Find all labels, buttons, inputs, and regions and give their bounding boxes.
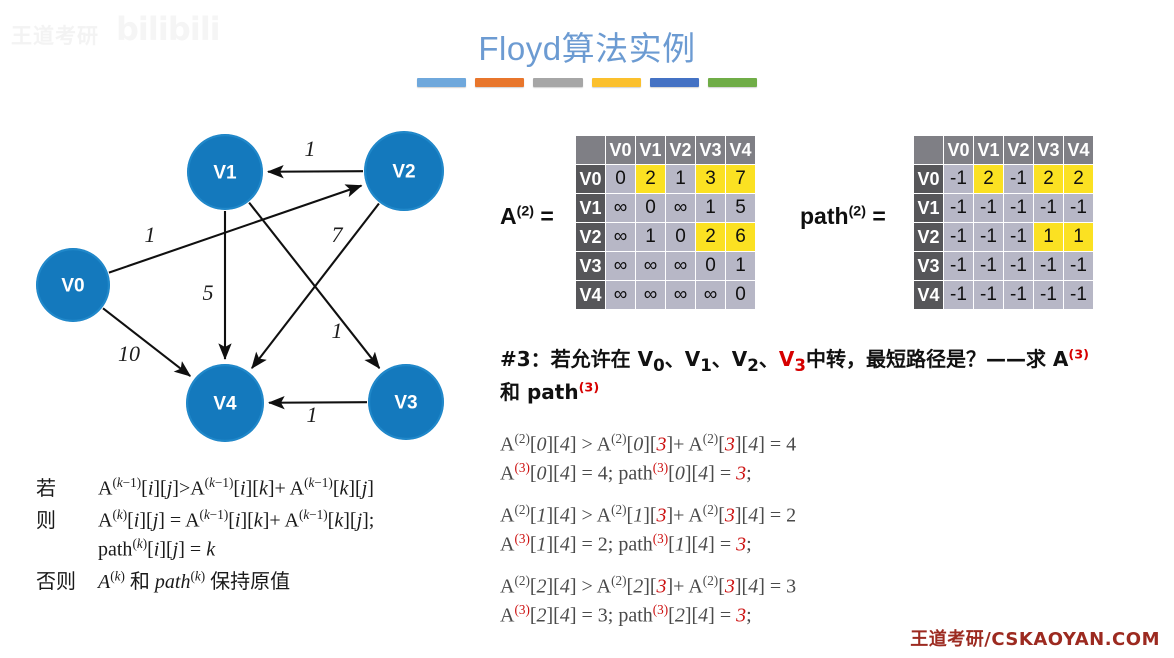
- matrix-path-corner: [914, 136, 943, 164]
- node-label-V3: V3: [394, 393, 417, 414]
- matrix-a-row-header-0: V0: [576, 165, 605, 193]
- matrix-a-cell-3-2: ∞: [666, 252, 695, 280]
- rule-value-0: A(k−1)[i][j]>A(k−1)[i][k]+ A(k−1)[k][j]: [98, 475, 374, 501]
- graph-nodes: V0V1V2V3V4: [36, 131, 444, 442]
- matrix-a-label: A(2) =: [500, 203, 554, 230]
- accent-bar-0: [417, 78, 466, 87]
- rule-value-1: A(k)[i][j] = A(k−1)[i][k]+ A(k−1)[k][j];: [98, 507, 374, 533]
- node-label-V2: V2: [392, 162, 415, 183]
- matrix-a-row: V4∞∞∞∞0: [576, 281, 755, 309]
- question-line-2: 和 path(3): [500, 378, 1160, 407]
- matrix-a-cell-4-3: ∞: [696, 281, 725, 309]
- matrix-a-cell-4-2: ∞: [666, 281, 695, 309]
- derivation-line-0-0: A(2)[0][4] > A(2)[0][3]+ A(2)[3][4] = 4: [500, 430, 1160, 459]
- matrix-a-cell-2-2: 0: [666, 223, 695, 251]
- matrix-a-cell-0-1: 2: [636, 165, 665, 193]
- graph-edge-V2-V1: [268, 171, 363, 172]
- matrix-path-row: V0-12-122: [914, 165, 1093, 193]
- matrix-path-row-header-2: V2: [914, 223, 943, 251]
- matrix-a-cell-4-0: ∞: [606, 281, 635, 309]
- matrix-a-cell-1-3: 1: [696, 194, 725, 222]
- matrix-a-row-header-4: V4: [576, 281, 605, 309]
- rule-key-0: 若: [36, 472, 98, 501]
- edge-weight-V0-V4: 10: [118, 341, 140, 366]
- matrix-a-cell-3-0: ∞: [606, 252, 635, 280]
- matrix-path-cell-3-0: -1: [944, 252, 973, 280]
- node-label-V0: V0: [61, 276, 84, 297]
- matrix-a-cell-3-1: ∞: [636, 252, 665, 280]
- matrix-path-col-header-3: V3: [1034, 136, 1063, 164]
- matrix-a-corner: [576, 136, 605, 164]
- matrix-a-cell-1-0: ∞: [606, 194, 635, 222]
- matrix-path-label: path(2) =: [800, 203, 886, 230]
- matrix-a-cell-3-3: 0: [696, 252, 725, 280]
- accent-bar-4: [650, 78, 699, 87]
- matrix-path-row: V4-1-1-1-1-1: [914, 281, 1093, 309]
- accent-bar-5: [708, 78, 757, 87]
- matrix-a-cell-4-1: ∞: [636, 281, 665, 309]
- rule-key-1: 则: [36, 504, 98, 533]
- node-label-V4: V4: [213, 394, 237, 415]
- matrix-path-cell-2-3: 1: [1034, 223, 1063, 251]
- matrix-path-row-header-1: V1: [914, 194, 943, 222]
- matrix-path-cell-1-4: -1: [1064, 194, 1093, 222]
- matrix-path-cell-4-1: -1: [974, 281, 1003, 309]
- accent-bar-1: [475, 78, 524, 87]
- derivation-line-1-1: A(3)[1][4] = 2; path(3)[1][4] = 3;: [500, 530, 1160, 559]
- matrix-path-cell-2-4: 1: [1064, 223, 1093, 251]
- derivation-group-1: A(2)[1][4] > A(2)[1][3]+ A(2)[3][4] = 2A…: [500, 501, 1160, 559]
- derivation-line-0-1: A(3)[0][4] = 4; path(3)[0][4] = 3;: [500, 459, 1160, 488]
- matrix-a-row-header-3: V3: [576, 252, 605, 280]
- matrix-path-cell-3-4: -1: [1064, 252, 1093, 280]
- matrix-path-cell-4-0: -1: [944, 281, 973, 309]
- matrix-path-cell-4-2: -1: [1004, 281, 1033, 309]
- floyd-rule-block: 若A(k−1)[i][j]>A(k−1)[i][k]+ A(k−1)[k][j]…: [36, 472, 476, 597]
- graph-node-V0[interactable]: V0: [36, 248, 110, 322]
- matrix-a-cell-0-2: 1: [666, 165, 695, 193]
- matrix-path-cell-4-3: -1: [1034, 281, 1063, 309]
- graph-node-V4[interactable]: V4: [186, 364, 264, 442]
- derivation-line-1-0: A(2)[1][4] > A(2)[1][3]+ A(2)[3][4] = 2: [500, 501, 1160, 530]
- matrix-a-col-header-4: V4: [726, 136, 755, 164]
- accent-bar-3: [592, 78, 641, 87]
- edge-weight-V0-V2: 1: [145, 222, 156, 247]
- matrix-path-cell-0-0: -1: [944, 165, 973, 193]
- rule-row-2: path(k)[i][j] = k: [36, 536, 476, 562]
- matrix-path-cell-0-4: 2: [1064, 165, 1093, 193]
- rule-value-3: A(k) 和 path(k) 保持原值: [98, 565, 290, 594]
- derivation-block: A(2)[0][4] > A(2)[0][3]+ A(2)[3][4] = 4A…: [500, 430, 1160, 643]
- accent-bar-2: [533, 78, 582, 87]
- graph-edge-V3-V4: [269, 402, 367, 403]
- matrix-path-col-header-0: V0: [944, 136, 973, 164]
- matrix-a-row-header-2: V2: [576, 223, 605, 251]
- matrix-path2: V0V1V2V3V4V0-12-122V1-1-1-1-1-1V2-1-1-11…: [913, 135, 1094, 310]
- graph-node-V2[interactable]: V2: [364, 131, 444, 211]
- edge-weight-V2-V1: 1: [305, 136, 316, 161]
- title-accent-bars: [417, 78, 757, 87]
- matrix-path-cell-2-0: -1: [944, 223, 973, 251]
- matrix-path-col-header-1: V1: [974, 136, 1003, 164]
- matrix-path-cell-3-3: -1: [1034, 252, 1063, 280]
- matrix-a-cell-0-4: 7: [726, 165, 755, 193]
- matrix-path-row-header-3: V3: [914, 252, 943, 280]
- matrix-a-col-header-3: V3: [696, 136, 725, 164]
- matrix-path-cell-3-1: -1: [974, 252, 1003, 280]
- slide-canvas: 王道考研 bilibili Floyd算法实例 V0V1V2V3V4 11571…: [0, 0, 1174, 658]
- matrix-a-row: V2∞1026: [576, 223, 755, 251]
- page-title: Floyd算法实例: [0, 22, 1174, 70]
- matrix-a-cell-2-4: 6: [726, 223, 755, 251]
- edge-weight-V1-V4: 5: [203, 280, 214, 305]
- footer-watermark: 王道考研/CSKAOYAN.COM: [910, 625, 1160, 651]
- matrix-path-cell-0-3: 2: [1034, 165, 1063, 193]
- matrix-path-cell-0-1: 2: [974, 165, 1003, 193]
- rule-row-3: 否则A(k) 和 path(k) 保持原值: [36, 565, 476, 594]
- matrix-path-cell-1-2: -1: [1004, 194, 1033, 222]
- graph-svg: V0V1V2V3V4 11571101: [0, 110, 500, 460]
- matrix-path-cell-0-2: -1: [1004, 165, 1033, 193]
- matrix-path-cell-1-0: -1: [944, 194, 973, 222]
- matrix-a-row: V3∞∞∞01: [576, 252, 755, 280]
- rule-key-3: 否则: [36, 565, 98, 594]
- matrix-a-cell-0-3: 3: [696, 165, 725, 193]
- matrix-path-cell-1-1: -1: [974, 194, 1003, 222]
- matrix-path-col-header-2: V2: [1004, 136, 1033, 164]
- matrix-path-col-header-4: V4: [1064, 136, 1093, 164]
- matrix-path-row: V1-1-1-1-1-1: [914, 194, 1093, 222]
- node-label-V1: V1: [213, 163, 237, 184]
- rule-value-2: path(k)[i][j] = k: [98, 536, 215, 562]
- matrix-a-cell-1-4: 5: [726, 194, 755, 222]
- rule-row-1: 则A(k)[i][j] = A(k−1)[i][k]+ A(k−1)[k][j]…: [36, 504, 476, 533]
- matrix-a-cell-2-3: 2: [696, 223, 725, 251]
- graph-node-V1[interactable]: V1: [187, 134, 263, 210]
- matrix-a-row: V002137: [576, 165, 755, 193]
- matrix-path-row: V2-1-1-111: [914, 223, 1093, 251]
- derivation-group-2: A(2)[2][4] > A(2)[2][3]+ A(2)[3][4] = 3A…: [500, 572, 1160, 630]
- rule-row-0: 若A(k−1)[i][j]>A(k−1)[i][k]+ A(k−1)[k][j]: [36, 472, 476, 501]
- matrix-path-cell-2-2: -1: [1004, 223, 1033, 251]
- matrix-a-col-header-0: V0: [606, 136, 635, 164]
- matrix-path-cell-4-4: -1: [1064, 281, 1093, 309]
- matrix-a-cell-2-0: ∞: [606, 223, 635, 251]
- matrix-a-cell-1-1: 0: [636, 194, 665, 222]
- graph-node-V3[interactable]: V3: [368, 364, 444, 440]
- matrix-path-cell-3-2: -1: [1004, 252, 1033, 280]
- matrix-a-row: V1∞0∞15: [576, 194, 755, 222]
- edge-weight-V1-V3: 1: [332, 318, 343, 343]
- directed-graph: V0V1V2V3V4 11571101: [0, 110, 500, 460]
- matrix-path-cell-1-3: -1: [1034, 194, 1063, 222]
- matrix-a-col-header-1: V1: [636, 136, 665, 164]
- matrix-path-row: V3-1-1-1-1-1: [914, 252, 1093, 280]
- matrix-a2: V0V1V2V3V4V002137V1∞0∞15V2∞1026V3∞∞∞01V4…: [575, 135, 756, 310]
- matrix-a-cell-0-0: 0: [606, 165, 635, 193]
- derivation-line-2-0: A(2)[2][4] > A(2)[2][3]+ A(2)[3][4] = 3: [500, 572, 1160, 601]
- matrix-a-cell-2-1: 1: [636, 223, 665, 251]
- matrix-path-cell-2-1: -1: [974, 223, 1003, 251]
- derivation-group-0: A(2)[0][4] > A(2)[0][3]+ A(2)[3][4] = 4A…: [500, 430, 1160, 488]
- question-line-1: #3：若允许在 V0、V1、V2、V3中转，最短路径是？——求 A(3): [500, 345, 1160, 378]
- edge-weight-V3-V4: 1: [307, 402, 318, 427]
- matrix-a-cell-1-2: ∞: [666, 194, 695, 222]
- matrix-path-row-header-0: V0: [914, 165, 943, 193]
- matrix-a-cell-4-4: 0: [726, 281, 755, 309]
- edge-weight-V2-V4: 7: [332, 222, 344, 247]
- question-text: #3：若允许在 V0、V1、V2、V3中转，最短路径是？——求 A(3) 和 p…: [500, 345, 1160, 407]
- matrix-path-row-header-4: V4: [914, 281, 943, 309]
- matrix-a-cell-3-4: 1: [726, 252, 755, 280]
- matrix-a-row-header-1: V1: [576, 194, 605, 222]
- graph-edge-V0-V4: [103, 308, 190, 376]
- matrix-a-col-header-2: V2: [666, 136, 695, 164]
